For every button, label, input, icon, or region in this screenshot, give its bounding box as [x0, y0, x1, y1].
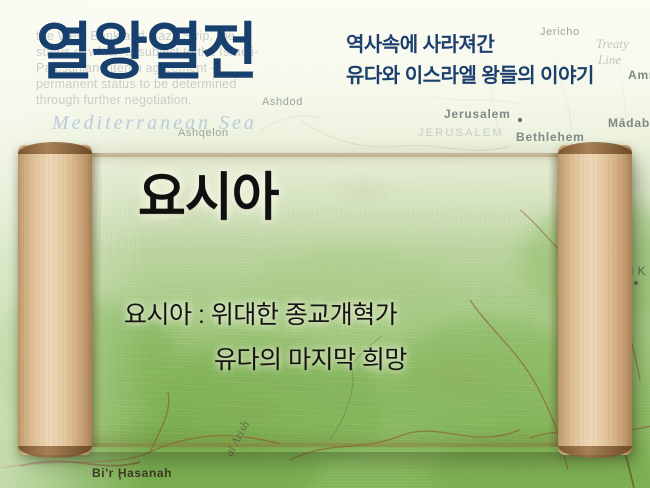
- subtitle-line-2: 유다와 이스라엘 왕들의 이야기: [346, 61, 594, 92]
- scroll-left-roll-grain: [18, 145, 92, 455]
- slide-canvas: Mediterranean Sea Ashdod Ashqelon Jerusa…: [0, 0, 650, 488]
- map-dot-al-karak: [634, 281, 638, 285]
- scroll-headline: 요시아: [138, 171, 279, 226]
- scroll-left-roll: [18, 145, 92, 455]
- scroll-body-line-2: 유다의 마지막 희망: [122, 338, 532, 383]
- subtitle-block: 역사속에 사라져간 유다와 이스라엘 왕들의 이야기: [346, 30, 594, 92]
- scroll-body-line-1: 요시아 : 위대한 종교개혁가: [122, 293, 532, 338]
- map-dot-jerusalem: [518, 118, 522, 122]
- scroll-body-text: 요시아 : 위대한 종교개혁가 유다의 마지막 희망: [122, 293, 532, 383]
- page-title: 열왕열전: [36, 22, 256, 84]
- parchment-scroll: 요시아 요시아 : 위대한 종교개혁가 유다의 마지막 희망: [18, 145, 632, 455]
- scroll-right-roll: [558, 145, 632, 455]
- scroll-content: 요시아 요시아 : 위대한 종교개혁가 유다의 마지막 희망: [86, 153, 564, 447]
- subtitle-line-1: 역사속에 사라져간: [346, 30, 594, 61]
- scroll-right-roll-grain: [558, 145, 632, 455]
